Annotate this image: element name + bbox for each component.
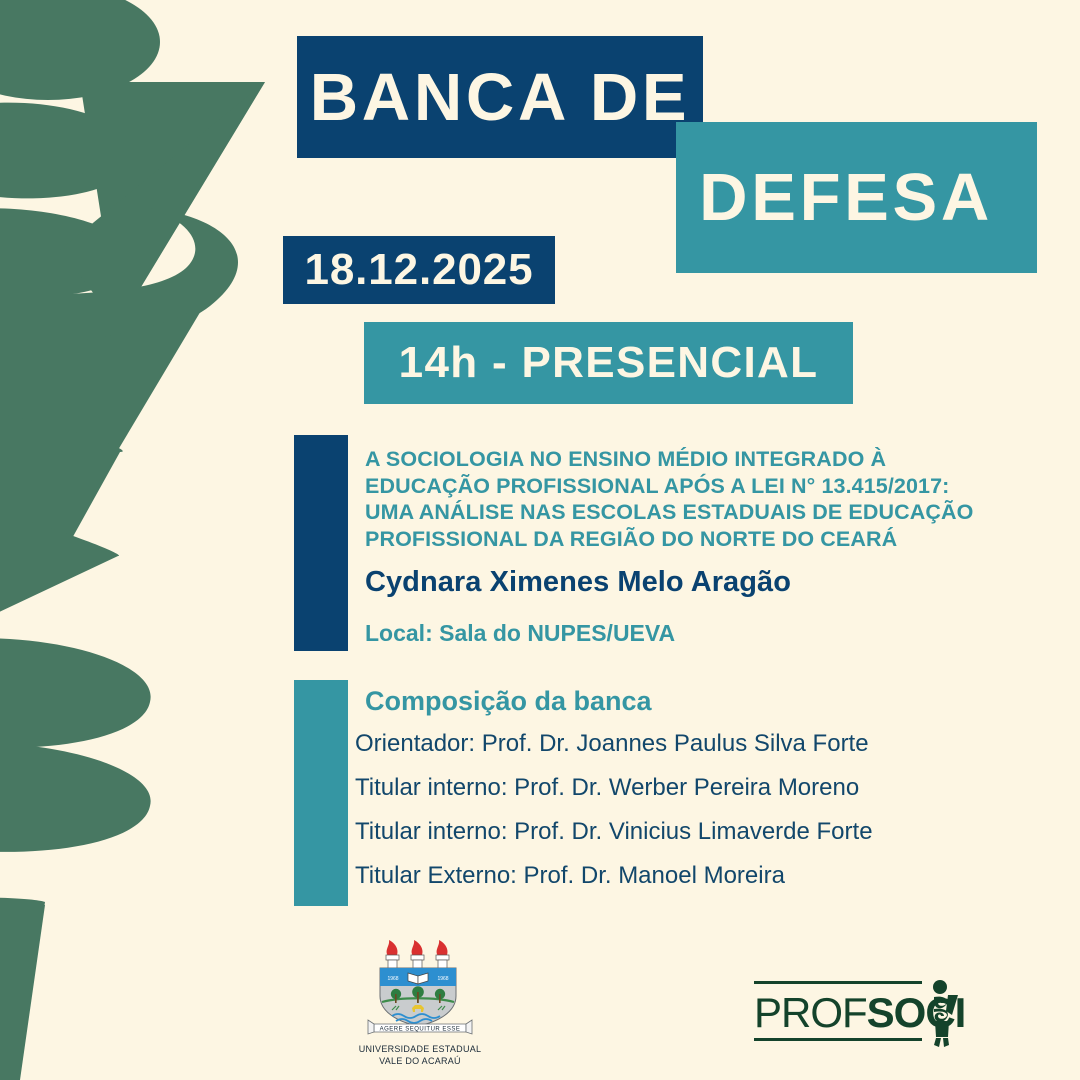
headline-defesa-text: DEFESA (699, 164, 993, 231)
work-title-line: PROFISSIONAL DA REGIÃO DO NORTE DO CEARÁ (365, 526, 1025, 553)
profsocio-word-light: PROFSOCIO (754, 989, 967, 1036)
crest-motto: AGERE SEQUITUR ESSE (380, 1027, 461, 1033)
crest-year-right: 1968 (437, 976, 448, 982)
list-item: Titular interno: Prof. Dr. Vinicius Lima… (355, 820, 995, 844)
background-decoration-icon (0, 0, 300, 1080)
committee-list: Orientador: Prof. Dr. Joannes Paulus Sil… (355, 732, 995, 908)
uva-caption: UNIVERSIDADE ESTADUAL VALE DO ACARAÚ (340, 1043, 500, 1067)
list-item: Titular interno: Prof. Dr. Werber Pereir… (355, 776, 995, 800)
headline-defesa-block: DEFESA (676, 122, 1037, 273)
headline-banca-block: BANCA DE (297, 36, 703, 158)
list-item: Titular Externo: Prof. Dr. Manoel Moreir… (355, 864, 995, 888)
work-title: A SOCIOLOGIA NO ENSINO MÉDIO INTEGRADO À… (365, 446, 1025, 553)
title-accent-bar (294, 435, 348, 651)
committee-accent-bar (294, 680, 348, 906)
committee-heading: Composição da banca (365, 686, 652, 717)
work-title-line: EDUCAÇÃO PROFISSIONAL APÓS A LEI N° 13.4… (365, 473, 1025, 500)
list-item: Orientador: Prof. Dr. Joannes Paulus Sil… (355, 732, 995, 756)
crest-year-left: 1968 (387, 976, 398, 982)
profsocio-logo: PROFSOCIO (752, 975, 967, 1047)
poster-canvas: BANCA DE DEFESA 18.12.2025 14h - PRESENC… (0, 0, 1080, 1080)
uva-caption-line2: VALE DO ACARAÚ (340, 1055, 500, 1067)
uva-logo: 1968 1968 AGERE SEQUITUR (340, 936, 500, 1066)
author-name: Cydnara Ximenes Melo Aragão (365, 566, 791, 599)
uva-crest-icon: 1968 1968 AGERE SEQUITUR (366, 936, 474, 1036)
time-mode-block: 14h - PRESENCIAL (364, 322, 853, 404)
date-text: 18.12.2025 (304, 248, 533, 292)
work-title-line: UMA ANÁLISE NAS ESCOLAS ESTADUAIS DE EDU… (365, 499, 1025, 526)
headline-banca-text: BANCA DE (310, 64, 691, 131)
time-mode-text: 14h - PRESENCIAL (399, 341, 819, 385)
uva-caption-line1: UNIVERSIDADE ESTADUAL (340, 1043, 500, 1055)
location-text: Local: Sala do NUPES/UEVA (365, 620, 675, 647)
profsocio-rule-bottom (754, 1038, 922, 1041)
profsocio-rule-top (754, 981, 922, 984)
profsocio-logo-icon: PROFSOCIO (752, 975, 967, 1047)
work-title-line: A SOCIOLOGIA NO ENSINO MÉDIO INTEGRADO À (365, 446, 1025, 473)
date-block: 18.12.2025 (283, 236, 555, 304)
work-title-group: A SOCIOLOGIA NO ENSINO MÉDIO INTEGRADO À… (365, 446, 1025, 553)
